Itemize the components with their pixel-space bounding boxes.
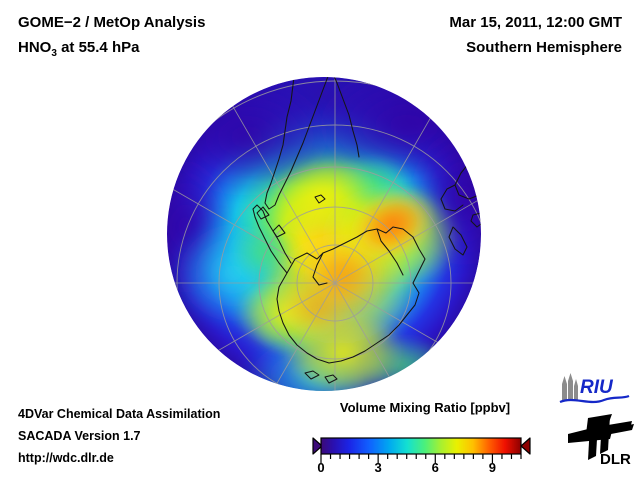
colorbar-tick-labels: 0369 bbox=[317, 460, 496, 472]
tower-icon bbox=[562, 373, 578, 400]
credit-line-2: SACADA Version 1.7 bbox=[18, 425, 220, 447]
polar-map bbox=[167, 77, 481, 391]
map-data-layer bbox=[167, 77, 481, 391]
datetime-label: Mar 15, 2011, 12:00 GMT bbox=[449, 10, 622, 35]
colorbar-tick-label: 6 bbox=[432, 460, 439, 472]
colorbar-extend-high bbox=[521, 438, 530, 454]
colorbar-tick-label: 9 bbox=[489, 460, 496, 472]
colorbar-tick-label: 3 bbox=[375, 460, 382, 472]
colorbar-title: Volume Mixing Ratio [ppbv] bbox=[300, 400, 550, 415]
instrument-title: GOME−2 / MetOp Analysis bbox=[18, 10, 205, 35]
riu-logo: RIU bbox=[556, 372, 632, 411]
dlr-logo: DLR bbox=[566, 412, 636, 473]
credits-block: 4DVar Chemical Data Assimilation SACADA … bbox=[18, 403, 220, 469]
colorbar-block: Volume Mixing Ratio [ppbv] 0369 bbox=[300, 400, 550, 472]
date-block: Mar 15, 2011, 12:00 GMT Southern Hemisph… bbox=[449, 10, 622, 60]
colorbar-gradient bbox=[321, 438, 521, 454]
riu-wordmark: RIU bbox=[580, 377, 614, 398]
credit-line-3[interactable]: http://wdc.dlr.de bbox=[18, 447, 220, 469]
species-formula-suffix: at 55.4 hPa bbox=[57, 39, 140, 56]
species-formula-prefix: HNO bbox=[18, 39, 51, 56]
region-label: Southern Hemisphere bbox=[449, 35, 622, 60]
colorbar: 0369 bbox=[300, 420, 550, 472]
colorbar-tick-label: 0 bbox=[317, 460, 324, 472]
credit-line-1: 4DVar Chemical Data Assimilation bbox=[18, 403, 220, 425]
title-block: GOME−2 / MetOp Analysis HNO3 at 55.4 hPa bbox=[18, 10, 205, 60]
dlr-wordmark: DLR bbox=[600, 451, 631, 468]
species-title: HNO3 at 55.4 hPa bbox=[18, 35, 205, 60]
